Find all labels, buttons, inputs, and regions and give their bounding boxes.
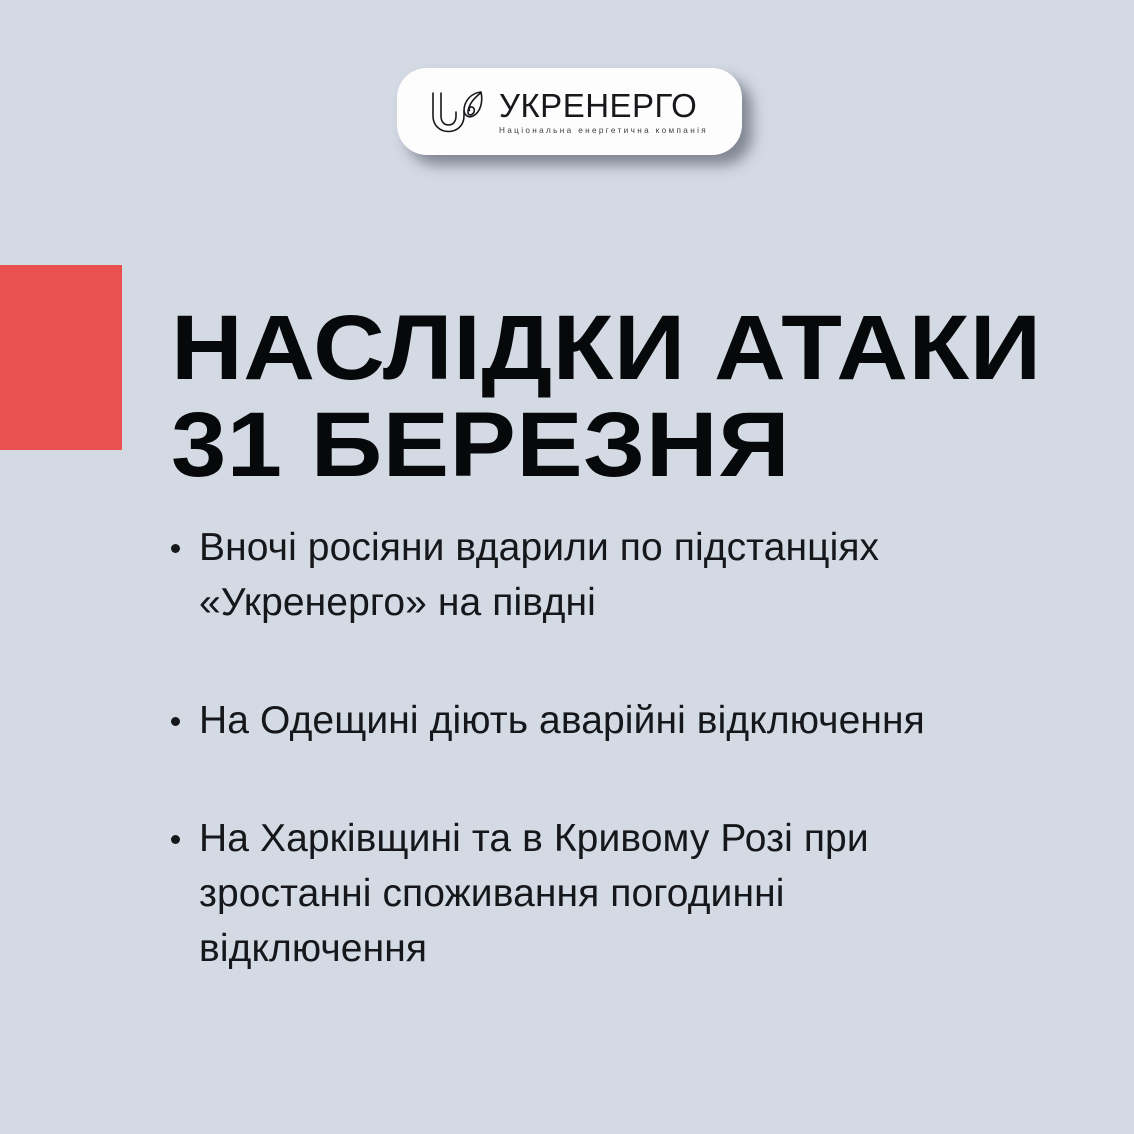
list-item-label: На Одещині діють аварійні відключення xyxy=(199,693,956,748)
logo-text-block: УКРЕНЕРГО Національна енергетична компан… xyxy=(499,87,708,135)
bullet-dot-icon xyxy=(171,544,180,553)
list-item-label: На Харківщині та в Кривому Розі при зрос… xyxy=(199,811,956,976)
bullet-list: Вночі росіяни вдарили по підстанціях «Ук… xyxy=(166,520,956,976)
list-item: На Харківщині та в Кривому Розі при зрос… xyxy=(166,811,956,976)
page-title: НАСЛІДКИ АТАКИ 31 БЕРЕЗНЯ xyxy=(171,300,1134,494)
logo-tagline: Національна енергетична компанія xyxy=(499,127,708,135)
ukrenergo-logo-card: УКРЕНЕРГО Національна енергетична компан… xyxy=(397,68,742,155)
ukrenergo-leaf-u-logo-icon xyxy=(427,89,489,135)
logo-wordmark: УКРЕНЕРГО xyxy=(499,89,708,122)
page-title-line-2: 31 БЕРЕЗНЯ xyxy=(171,397,1134,494)
list-item: На Одещині діють аварійні відключення xyxy=(166,693,956,748)
list-item: Вночі росіяни вдарили по підстанціях «Ук… xyxy=(166,520,956,630)
page-title-line-1: НАСЛІДКИ АТАКИ xyxy=(171,300,1134,397)
bullet-dot-icon xyxy=(171,835,180,844)
bullet-dot-icon xyxy=(171,717,180,726)
red-accent-block xyxy=(0,265,122,450)
list-item-label: Вночі росіяни вдарили по підстанціях «Ук… xyxy=(199,520,956,630)
poster-canvas: УКРЕНЕРГО Національна енергетична компан… xyxy=(0,0,1134,1134)
